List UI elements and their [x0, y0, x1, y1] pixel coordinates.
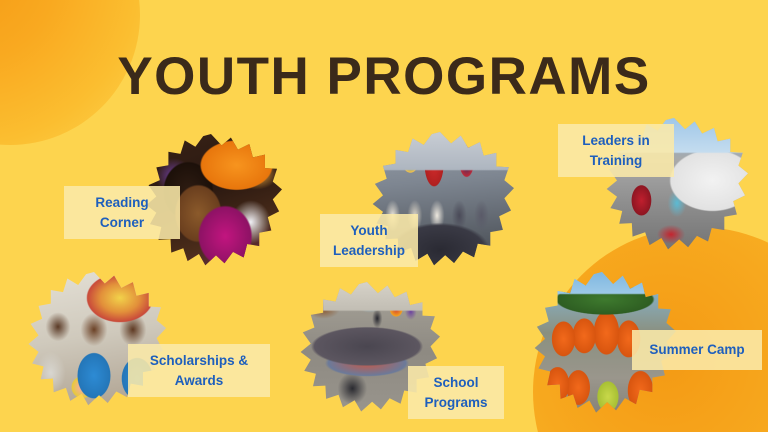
label-summer-camp: Summer Camp — [632, 330, 762, 370]
label-leaders-in-training: Leaders in Training — [558, 124, 674, 177]
page-title: YOUTH PROGRAMS — [0, 50, 768, 103]
label-reading-corner: Reading Corner — [64, 186, 180, 239]
youth-programs-slide: { "slide": { "title": "YOUTH PROGRAMS", … — [0, 0, 768, 432]
label-scholarships-awards: Scholarships & Awards — [128, 344, 270, 397]
label-school-programs: School Programs — [408, 366, 504, 419]
label-youth-leadership: Youth Leadership — [320, 214, 418, 267]
